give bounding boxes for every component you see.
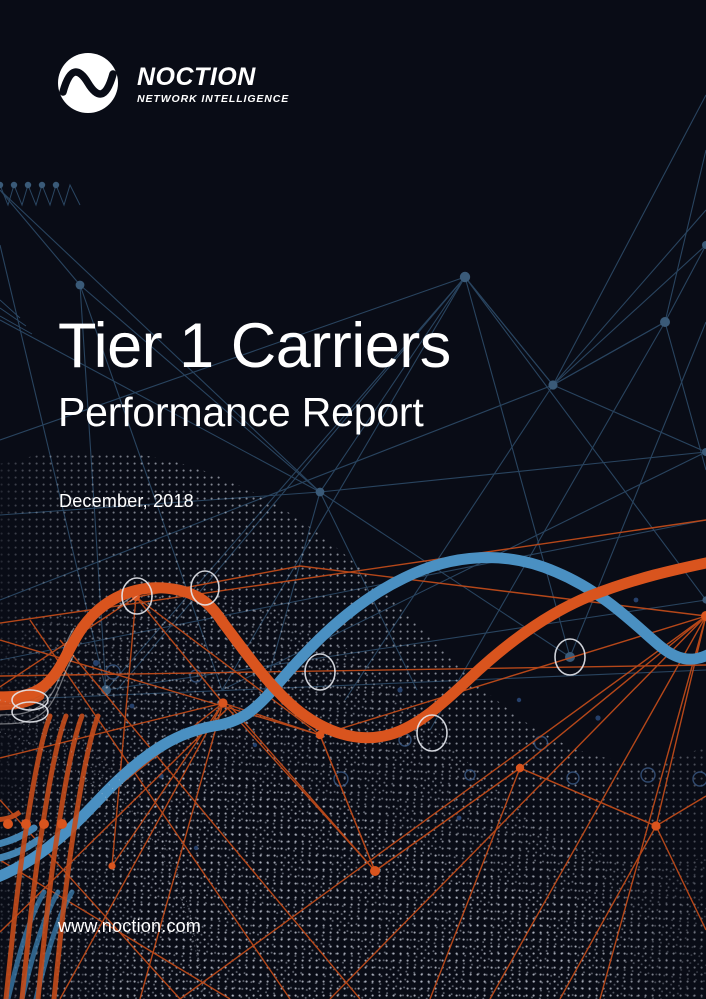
- page-title: Tier 1 Carriers: [58, 312, 451, 380]
- page-subtitle: Performance Report: [58, 390, 451, 435]
- report-date: December, 2018: [59, 491, 194, 512]
- cover-title-block: Tier 1 Carriers Performance Report: [58, 312, 451, 435]
- brand-wordmark: NOCTION NETWORK INTELLIGENCE: [137, 62, 289, 105]
- footer-website-url[interactable]: www.noction.com: [58, 916, 201, 937]
- brand-tagline: NETWORK INTELLIGENCE: [137, 94, 289, 105]
- brand-logo: NOCTION NETWORK INTELLIGENCE: [57, 52, 289, 114]
- brand-name: NOCTION: [137, 64, 289, 90]
- report-cover-page: NOCTION NETWORK INTELLIGENCE Tier 1 Carr…: [0, 0, 706, 999]
- noction-wave-circle-icon: [57, 52, 119, 114]
